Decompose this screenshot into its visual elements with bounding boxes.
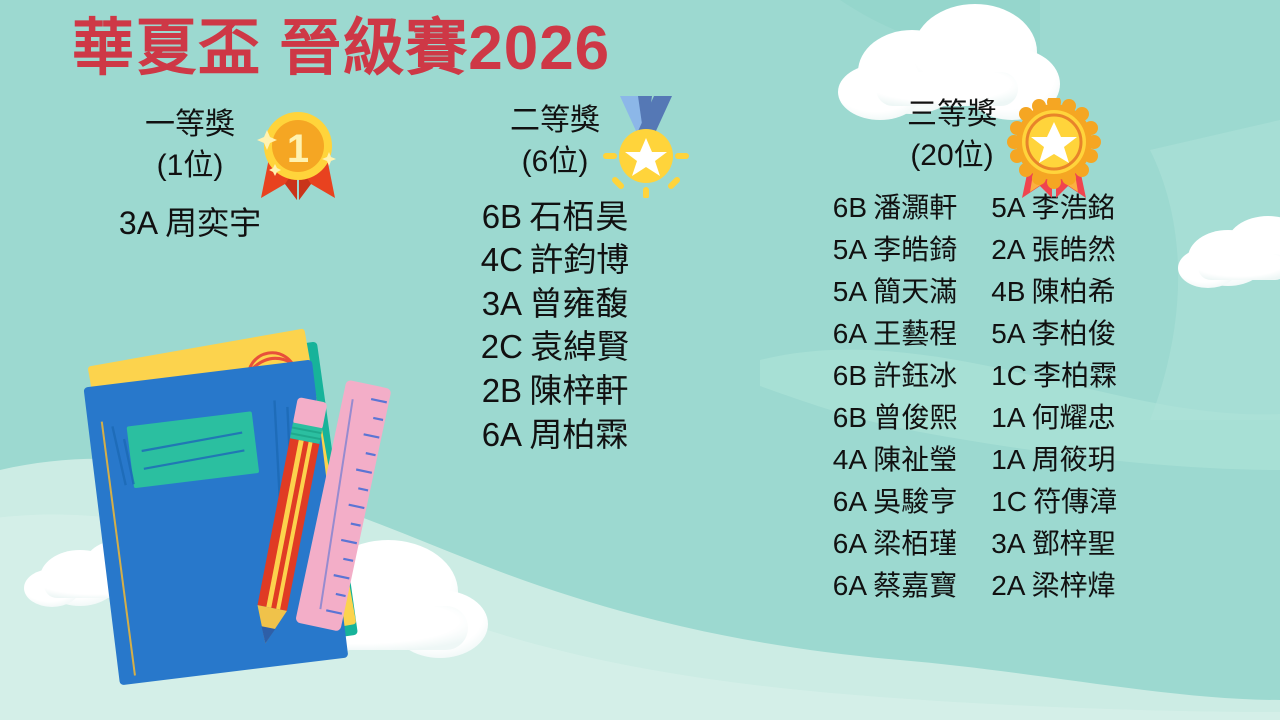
prize-header-second: 二等獎 (6位) — [400, 100, 710, 183]
winner-class: 2B — [482, 372, 522, 409]
winner-name: 周柏霖 — [529, 416, 628, 453]
winner-class: 6A — [833, 486, 867, 517]
winner-class: 4B — [991, 276, 1025, 307]
winner-row: 6A周柏霖 — [400, 413, 710, 457]
winner-class: 6A — [833, 570, 867, 601]
winner-class: 6B — [833, 402, 867, 433]
prize-section-third: 三等獎 (20位) — [760, 94, 1190, 607]
winner-row: 4A陳祉瑩 — [833, 439, 957, 481]
winner-name: 周筱玥 — [1032, 444, 1116, 475]
winner-row: 1C李柏霖 — [991, 355, 1117, 397]
winner-name: 陳柏希 — [1032, 276, 1116, 307]
winner-row: 6A王藝程 — [833, 313, 957, 355]
winner-class: 5A — [833, 276, 867, 307]
winner-row: 4B陳柏希 — [991, 271, 1117, 313]
winner-name: 袁綽賢 — [530, 328, 629, 365]
winner-row: 5A簡天滿 — [833, 271, 957, 313]
winner-name: 張皓然 — [1032, 234, 1116, 265]
winner-row: 1C符傳漳 — [991, 481, 1117, 523]
winner-name: 陳梓軒 — [529, 372, 628, 409]
winner-name: 陳祉瑩 — [873, 444, 957, 475]
winner-row: 3A曾雍馥 — [400, 282, 710, 326]
winner-name: 梁栢瑾 — [873, 528, 957, 559]
winner-row: 2A張皓然 — [991, 229, 1117, 271]
winner-row: 2B陳梓軒 — [400, 369, 710, 413]
winner-list-third-left: 6B潘灝軒 5A李皓錡 5A簡天滿 6A王藝程 6B許鈺冰 6B曾俊熙 4A陳祉… — [833, 187, 957, 607]
star-rosette-icon — [1000, 98, 1108, 213]
winner-row: 2A梁梓煒 — [991, 565, 1117, 607]
winner-columns-third: 6B潘灝軒 5A李皓錡 5A簡天滿 6A王藝程 6B許鈺冰 6B曾俊熙 4A陳祉… — [760, 187, 1190, 607]
winner-class: 6B — [833, 192, 867, 223]
winner-row: 6A梁栢瑾 — [833, 523, 957, 565]
winner-row: 6A蔡嘉寶 — [833, 565, 957, 607]
winner-class: 3A — [991, 528, 1025, 559]
winner-class: 4A — [833, 444, 867, 475]
winner-class: 6B — [482, 198, 522, 235]
winner-class: 2C — [481, 328, 523, 365]
winner-name: 王藝程 — [873, 318, 957, 349]
winner-name: 何耀忠 — [1032, 402, 1116, 433]
winner-name: 曾雍馥 — [529, 285, 628, 322]
winner-name: 梁梓煒 — [1032, 570, 1116, 601]
winner-class: 1A — [991, 444, 1025, 475]
winner-row: 2C袁綽賢 — [400, 325, 710, 369]
winner-class: 1A — [991, 402, 1025, 433]
winner-row: 6A吳駿亨 — [833, 481, 957, 523]
winner-class: 6A — [833, 528, 867, 559]
winner-name: 李皓錡 — [873, 234, 957, 265]
prize-header-first: 一等獎 (1位) 1 — [40, 104, 340, 187]
winner-class: 6A — [833, 318, 867, 349]
winner-row: 5A李柏俊 — [991, 313, 1117, 355]
winner-name: 許鈺冰 — [873, 360, 957, 391]
prize-section-second: 二等獎 (6位) 6B石栢昊 4C許鈞博 3A曾雍馥 2C袁綽賢 — [400, 100, 710, 456]
page-title: 華夏盃 晉級賽2026 — [72, 12, 610, 86]
winner-name: 鄧梓聖 — [1032, 528, 1116, 559]
winner-class: 6A — [482, 416, 522, 453]
winner-class: 3A — [482, 285, 522, 322]
winner-row: 4C許鈞博 — [400, 238, 710, 282]
winner-row: 6B許鈺冰 — [833, 355, 957, 397]
winner-class: 2A — [991, 570, 1025, 601]
winner-class: 1C — [991, 486, 1027, 517]
winner-class: 6B — [833, 360, 867, 391]
winner-name: 李柏霖 — [1033, 360, 1117, 391]
winner-name: 潘灝軒 — [873, 192, 957, 223]
winner-name: 李柏俊 — [1032, 318, 1116, 349]
winner-list-third-right: 5A李浩銘 2A張皓然 4B陳柏希 5A李柏俊 1C李柏霖 1A何耀忠 1A周筱… — [991, 187, 1117, 607]
gold-medal-1-icon: 1 — [245, 106, 351, 213]
winner-row: 6B曾俊熙 — [833, 397, 957, 439]
winner-row: 1A何耀忠 — [991, 397, 1117, 439]
star-medal-ribbon-icon — [590, 94, 702, 209]
svg-text:1: 1 — [287, 127, 309, 171]
winner-list-second: 6B石栢昊 4C許鈞博 3A曾雍馥 2C袁綽賢 2B陳梓軒 6A周柏霖 — [400, 195, 710, 456]
winner-name: 蔡嘉寶 — [873, 570, 957, 601]
winner-row: 1A周筱玥 — [991, 439, 1117, 481]
winner-class: 5A — [833, 234, 867, 265]
winner-name: 簡天滿 — [873, 276, 957, 307]
winner-class: 1C — [991, 360, 1027, 391]
winner-name: 曾俊熙 — [873, 402, 957, 433]
prize-header-third: 三等獎 (20位) — [760, 94, 1190, 177]
winner-class: 3A — [119, 205, 158, 241]
winner-name: 符傳漳 — [1033, 486, 1117, 517]
winner-row: 3A鄧梓聖 — [991, 523, 1117, 565]
winner-class: 4C — [481, 241, 523, 278]
winner-name: 許鈞博 — [530, 241, 629, 278]
winner-class: 5A — [991, 318, 1025, 349]
winner-row: 5A李皓錡 — [833, 229, 957, 271]
winner-name: 吳駿亨 — [873, 486, 957, 517]
winner-class: 2A — [991, 234, 1025, 265]
prize-section-first: 一等獎 (1位) 1 3A周奕宇 — [40, 104, 340, 246]
winner-row: 6B潘灝軒 — [833, 187, 957, 229]
